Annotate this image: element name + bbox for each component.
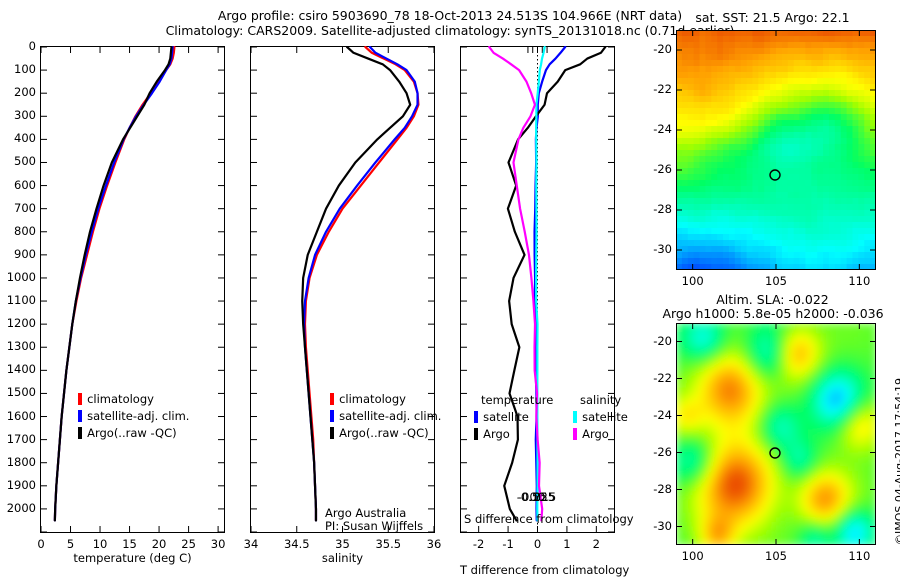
salinity-tick-label: 35	[335, 537, 350, 551]
temperature-tick-label: 15	[122, 537, 137, 551]
legend-label-argo: Argo(..raw -QC)	[339, 426, 429, 440]
legend-label-temp-satellite: satellite	[483, 410, 529, 424]
sla-map-title-line1: Altim. SLA: -0.022	[655, 292, 890, 307]
depth-tick-label: 1100	[7, 293, 36, 307]
sst-longitude-tick-label: 110	[848, 274, 870, 288]
sst-longitude-tick-label: 105	[765, 274, 787, 288]
sla-latitude-tick-label: -30	[653, 519, 672, 533]
sst-longitude-tick-label: 100	[682, 274, 704, 288]
salinity-legend: climatology satellite-adj. clim. Argo(..…	[330, 390, 441, 441]
difference-plot-svg	[460, 46, 615, 533]
temperature-tick-label: 0	[37, 537, 44, 551]
temperature-legend: climatology satellite-adj. clim. Argo(..…	[78, 390, 189, 441]
salinity-tick-label: 35.5	[375, 537, 401, 551]
sla-longitude-tick-label: 110	[848, 549, 870, 563]
legend-swatch-sal-argo	[573, 428, 577, 440]
sst-map-panel	[676, 30, 876, 270]
t-difference-tick-label: 1	[563, 537, 570, 551]
salinity-tick-label: 36	[427, 537, 442, 551]
legend-swatch-temp-argo	[474, 428, 478, 440]
depth-tick-label: 200	[14, 85, 36, 99]
depth-tick-label: 1600	[7, 409, 36, 423]
depth-tick-label: 400	[14, 131, 36, 145]
depth-tick-label: 900	[14, 247, 36, 261]
t-difference-tick-label: -1	[502, 537, 513, 551]
sla-map-title-line2: Argo h1000: 5.8e-05 h2000: -0.036	[648, 306, 898, 321]
sla-latitude-tick-label: -28	[653, 482, 672, 496]
sla-map-svg	[676, 323, 876, 545]
depth-tick-label: 300	[14, 108, 36, 122]
legend-swatch-climatology	[330, 393, 334, 405]
copyright-text: ©IMOS 04-Aug-2017 17:54:19	[893, 378, 900, 545]
salinity-tick-label: 34.5	[284, 537, 310, 551]
pi-annotation: PI: Susan Wijffels	[325, 519, 423, 533]
depth-tick-label: 1800	[7, 455, 36, 469]
temperature-plot-svg	[40, 46, 225, 533]
sst-map-title: sat. SST: 21.5 Argo: 22.1	[655, 10, 890, 25]
legend-label-climatology: climatology	[339, 392, 406, 406]
sst-latitude-tick-label: -28	[653, 202, 672, 216]
legend-label-climatology: climatology	[87, 392, 154, 406]
sla-longitude-tick-label: 100	[682, 549, 704, 563]
depth-tick-label: 1700	[7, 432, 36, 446]
depth-tick-label: 1300	[7, 339, 36, 353]
sst-latitude-tick-label: -20	[653, 42, 672, 56]
sst-latitude-tick-label: -22	[653, 82, 672, 96]
sst-latitude-tick-label: -26	[653, 162, 672, 176]
salinity-plot-svg	[250, 46, 435, 533]
legend-swatch-satellite-adj	[330, 410, 334, 422]
sla-heatmap-cells	[676, 323, 876, 545]
plot-frame	[251, 47, 435, 533]
depth-tick-label: 1900	[7, 478, 36, 492]
legend-label-sal-argo: Argo	[582, 427, 609, 441]
sst-latitude-tick-label: -24	[653, 122, 672, 136]
depth-tick-label: 700	[14, 201, 36, 215]
difference-legend-salinity: salinity satellite Argo	[573, 392, 628, 442]
depth-tick-label: 1500	[7, 385, 36, 399]
sla-latitude-tick-label: -24	[653, 408, 672, 422]
t-difference-axis-title: T difference from climatology	[460, 563, 615, 577]
temperature-axis-title: temperature (deg C)	[40, 551, 225, 565]
sla-longitude-tick-label: 105	[765, 549, 787, 563]
legend-header-temperature: temperature	[474, 392, 553, 408]
legend-swatch-argo	[330, 427, 334, 439]
sla-map-panel	[676, 323, 876, 545]
temperature-tick-label: 30	[211, 537, 226, 551]
legend-label-argo: Argo(..raw -QC)	[87, 426, 177, 440]
depth-tick-label: 2000	[7, 501, 36, 515]
temperature-tick-label: 5	[67, 537, 74, 551]
depth-tick-label: 800	[14, 224, 36, 238]
legend-swatch-argo	[78, 427, 82, 439]
temperature-tick-label: 20	[152, 537, 167, 551]
legend-label-satellite-adj: satellite-adj. clim.	[339, 409, 441, 423]
legend-swatch-climatology	[78, 393, 82, 405]
temperature-profile-panel	[40, 46, 225, 533]
depth-tick-label: 1200	[7, 316, 36, 330]
salinity-axis-title: salinity	[250, 551, 435, 565]
argo-australia-annotation: Argo Australia	[325, 506, 406, 520]
s-difference-axis-title: S difference from climatology	[464, 512, 634, 526]
t-difference-tick-label: 2	[593, 537, 600, 551]
sla-latitude-tick-label: -20	[653, 334, 672, 348]
legend-swatch-temp-satellite	[474, 411, 478, 423]
legend-swatch-satellite-adj	[78, 410, 82, 422]
s-difference-tick-label: 0.5	[538, 490, 556, 504]
depth-tick-label: 100	[14, 62, 36, 76]
sst-heatmap-cells	[676, 30, 876, 270]
legend-label-satellite-adj: satellite-adj. clim.	[87, 409, 189, 423]
legend-label-temp-argo: Argo	[483, 427, 510, 441]
t-difference-tick-label: -2	[473, 537, 484, 551]
depth-tick-label: 500	[14, 154, 36, 168]
salinity-profile-panel	[250, 46, 435, 533]
temperature-tick-label: 25	[181, 537, 196, 551]
legend-swatch-sal-satellite	[573, 411, 577, 423]
sst-map-svg	[676, 30, 876, 270]
salinity-tick-label: 34	[244, 537, 259, 551]
sla-latitude-tick-label: -26	[653, 445, 672, 459]
depth-tick-label: 600	[14, 178, 36, 192]
depth-tick-label: 0	[29, 39, 36, 53]
sst-latitude-tick-label: -30	[653, 242, 672, 256]
plot-frame	[41, 47, 225, 533]
depth-tick-label: 1000	[7, 270, 36, 284]
difference-profile-panel	[460, 46, 615, 533]
legend-label-sal-satellite: satellite	[582, 410, 628, 424]
sla-latitude-tick-label: -22	[653, 371, 672, 385]
t-difference-tick-label: 0	[534, 537, 541, 551]
temperature-tick-label: 10	[93, 537, 108, 551]
depth-tick-label: 1400	[7, 362, 36, 376]
difference-legend-temperature: temperature satellite Argo	[474, 392, 553, 442]
